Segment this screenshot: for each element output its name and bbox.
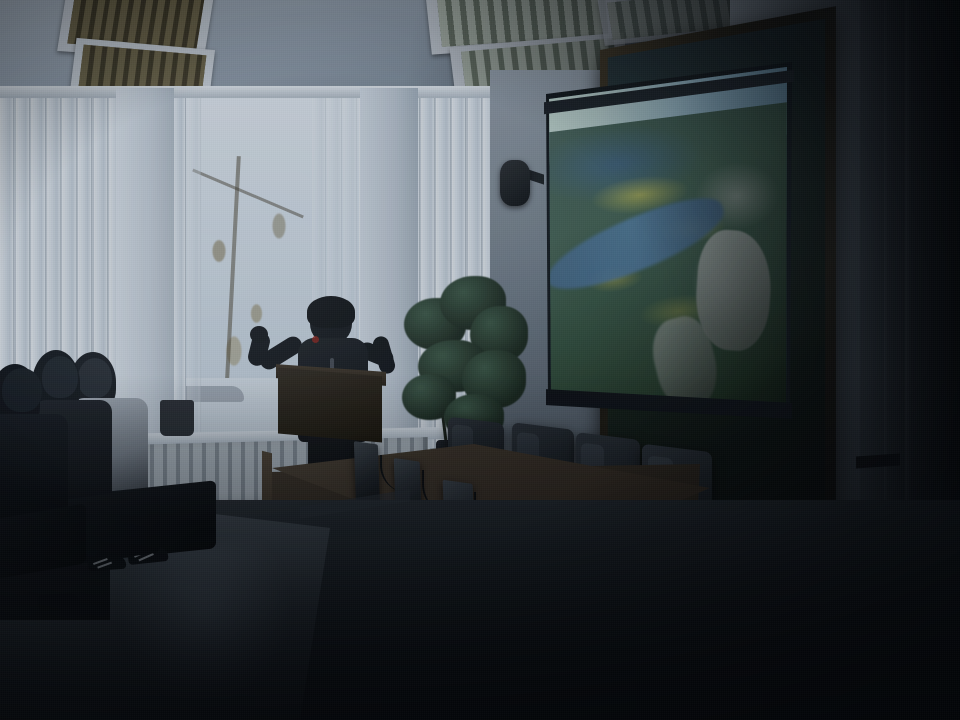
projection-screen[interactable]: ЭКОЛОГИЧЕСКИЙ КАРКАС РЕСПУБЛИКИ БАШКОРТО…: [540, 60, 796, 420]
wall-speaker-icon: [500, 160, 530, 206]
conference-room-photo: ЭКОЛОГИЧЕСКИЙ КАРКАС РЕСПУБЛИКИ БАШКОРТО…: [0, 0, 960, 720]
presenter-hair: [307, 296, 355, 328]
audience-member-1: [0, 358, 114, 608]
lectern: [278, 367, 382, 442]
audience-head: [2, 368, 42, 412]
audience-shoe-3: [38, 593, 81, 611]
blind-head-rail[interactable]: [0, 86, 530, 98]
presenter-collar-detail: [312, 336, 319, 343]
screen-glare: [540, 60, 796, 420]
presenter-left-hand: [250, 326, 268, 343]
